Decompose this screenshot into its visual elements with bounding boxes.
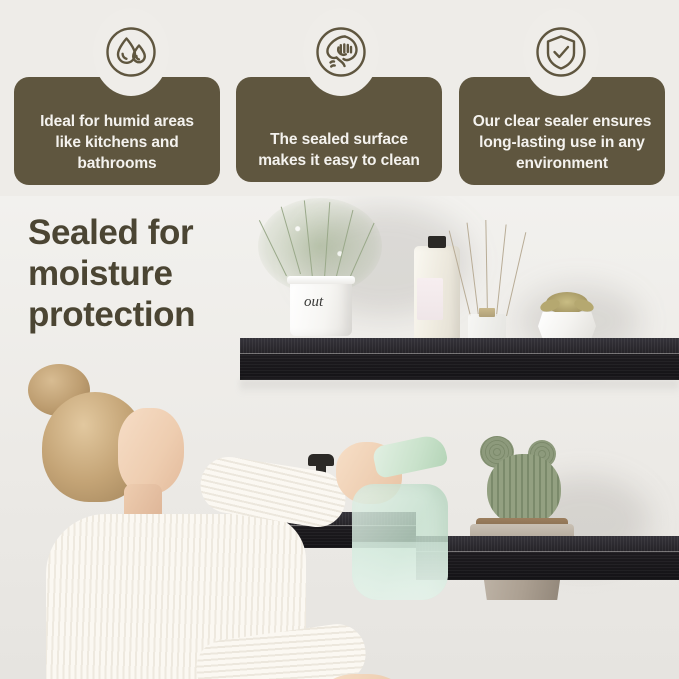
water-drops-icon (93, 8, 169, 96)
upper-shelf (240, 338, 679, 360)
feature-card-text: Ideal for humid areas like kitchens and … (26, 111, 208, 174)
spray-bottle-liquid (352, 542, 448, 600)
product-infographic: out (0, 0, 679, 679)
spray-nozzle (371, 433, 448, 479)
lower-shelf (416, 536, 679, 558)
face (118, 408, 184, 494)
diffuser-collar (479, 308, 495, 317)
hand-wiping-cloth-icon (303, 8, 379, 96)
feature-card-row: Ideal for humid areas like kitchens and … (0, 0, 679, 196)
shield-check-icon (523, 8, 599, 96)
page-headline: Sealed for moisture protection (28, 213, 268, 336)
upper-shelf-shadow (240, 380, 679, 394)
bottle-label (417, 278, 443, 320)
cactus-body (487, 454, 561, 526)
feature-card-humid-areas[interactable]: Ideal for humid areas like kitchens and … (14, 77, 220, 185)
feature-card-easy-clean[interactable]: The sealed surface makes it easy to clea… (236, 77, 442, 182)
feature-card-text: Our clear sealer ensures long-lasting us… (471, 111, 653, 174)
pot-script-text: out (304, 294, 334, 310)
feature-card-text: The sealed surface makes it easy to clea… (248, 129, 430, 171)
feature-card-clear-sealer[interactable]: Our clear sealer ensures long-lasting us… (459, 77, 665, 185)
bottle-cap (428, 236, 446, 248)
